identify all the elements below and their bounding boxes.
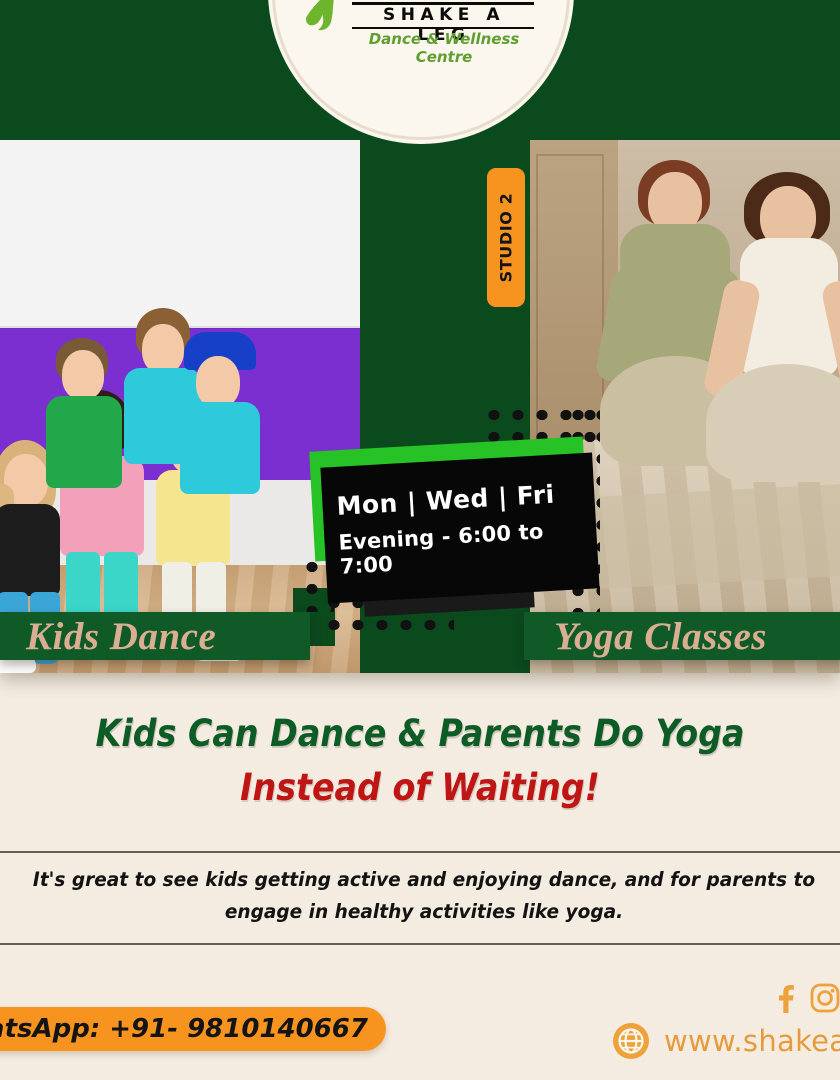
social-links (772, 983, 840, 1013)
flyer-poster: STUDIO 2 Mon | Wed | Fri Evening - 6:00 … (0, 0, 840, 1080)
divider-rule-bottom (0, 943, 840, 945)
body-text: It's great to see kids getting active an… (16, 864, 833, 928)
logo-tagline: Dance & Wellness Centre (338, 30, 550, 66)
schedule-banner: Mon | Wed | Fri Evening - 6:00 to 7:00 (312, 432, 586, 614)
schedule-days: Mon | Wed | Fri (336, 477, 595, 520)
divider-rule-top (0, 851, 840, 853)
yoga-classes-caption-banner: Yoga Classes (524, 612, 840, 660)
headline-line-2: Instead of Waiting! (42, 766, 798, 809)
kid-figure-blue-cap-boy (176, 330, 268, 510)
globe-icon (612, 1022, 650, 1060)
schedule-time: Evening - 6:00 to 7:00 (338, 516, 598, 578)
schedule-black-panel: Mon | Wed | Fri Evening - 6:00 to 7:00 (320, 453, 599, 604)
yoga-classes-caption: Yoga Classes (554, 614, 767, 659)
kids-dance-caption-banner: Kids Dance (0, 612, 310, 660)
kid-figure-green-boy (42, 338, 126, 488)
facebook-icon[interactable] (772, 983, 798, 1013)
headline-line-1: Kids Can Dance & Parents Do Yoga (42, 712, 798, 755)
logo-circle: SAL SHAKE A LEG Dance & Wellness Centre (268, 0, 574, 144)
logo-rule-bottom (352, 27, 534, 29)
website-url: www.shakealeg.in (664, 1024, 840, 1058)
kids-dance-caption: Kids Dance (26, 614, 216, 659)
studio-2-label: STUDIO 2 (497, 193, 516, 283)
studio-wall-upper (0, 140, 360, 328)
studio-2-badge: STUDIO 2 (487, 168, 525, 307)
logo-lockup: SAL SHAKE A LEG Dance & Wellness Centre (268, 4, 574, 144)
whatsapp-contact-pill[interactable]: WhatsApp: +91- 9810140667 (0, 1007, 386, 1051)
yogi-figure-right (706, 172, 840, 544)
website-link[interactable]: www.shakealeg.in (612, 1022, 840, 1060)
headline: Kids Can Dance & Parents Do Yoga Instead… (0, 712, 840, 809)
instagram-icon[interactable] (810, 983, 840, 1013)
whatsapp-number: WhatsApp: +91- 9810140667 (0, 1014, 368, 1044)
